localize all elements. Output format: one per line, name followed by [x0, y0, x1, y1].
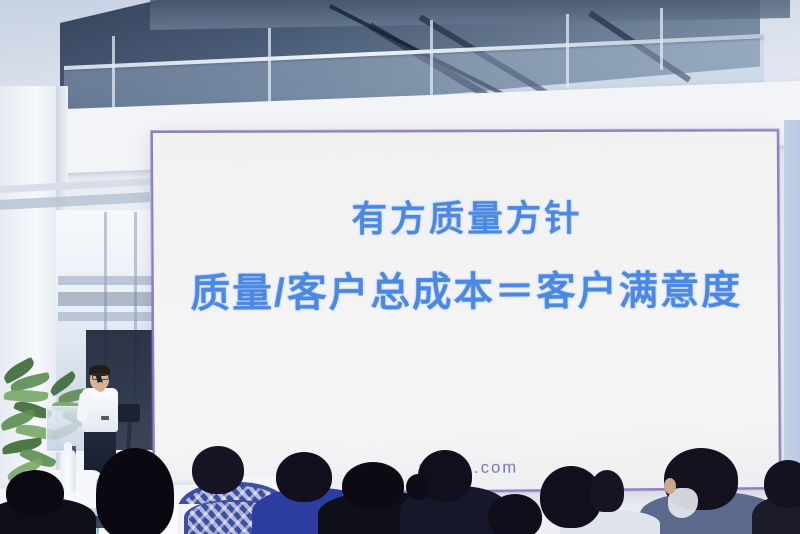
speaker-watch: [101, 416, 109, 420]
hair-tuft: [590, 470, 624, 512]
glass-mullion: [430, 20, 433, 100]
glass-mullion: [660, 8, 663, 70]
audience-head: [6, 470, 64, 516]
audience-head: [764, 460, 800, 508]
slide-formula: 质量/客户总成本＝客户满意度: [190, 258, 742, 319]
ceiling-slat: [58, 292, 158, 306]
glass-mullion: [566, 14, 569, 88]
presentation-screen[interactable]: 有方质量方针 质量/客户总成本＝客户满意度 www. .com: [151, 129, 781, 495]
glass-mullion: [268, 28, 271, 112]
speaker-hand: [96, 382, 105, 392]
conference-photo: 有方质量方针 质量/客户总成本＝客户满意度 www. .com: [0, 0, 800, 534]
audience-head: [342, 462, 404, 510]
audience-head: [276, 452, 332, 502]
hair-bun: [406, 474, 430, 500]
audience-head: [192, 446, 244, 494]
ceiling-slat: [58, 276, 158, 285]
ear: [664, 478, 676, 494]
vase-neck: [64, 442, 72, 454]
slide-content: 有方质量方针 质量/客户总成本＝客户满意度 www. .com: [153, 131, 779, 493]
ceiling-slat: [58, 312, 158, 321]
slide-title: 有方质量方针: [351, 189, 582, 242]
audience-head: [488, 494, 542, 534]
audience-head-foreground: [96, 448, 174, 534]
camera-head: [118, 404, 140, 422]
